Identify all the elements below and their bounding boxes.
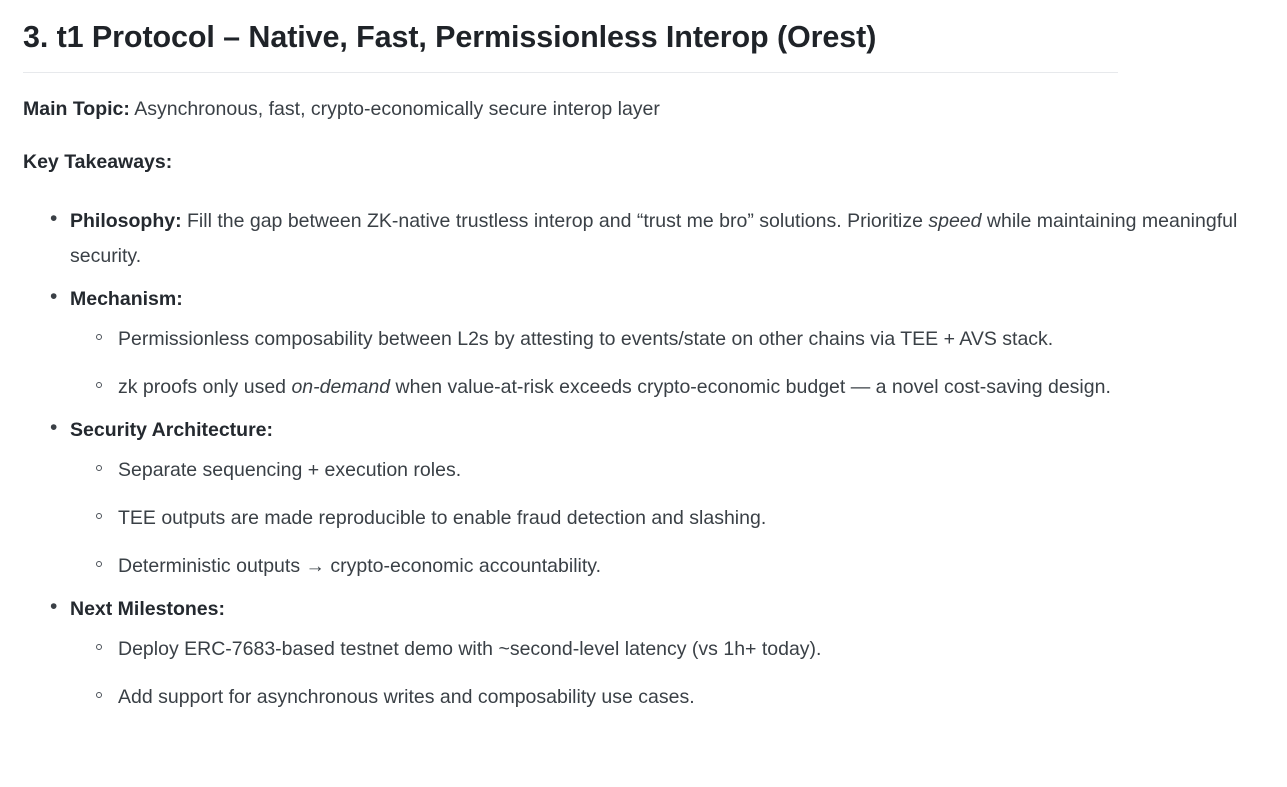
- list-item: Separate sequencing + execution roles.: [70, 452, 1264, 488]
- sub-text-b: when value-at-risk exceeds crypto-econom…: [390, 376, 1111, 398]
- main-topic-paragraph: Main Topic: Asynchronous, fast, crypto-e…: [23, 95, 1264, 124]
- sub-text-a: Permissionless composability between L2s…: [118, 328, 1053, 350]
- milestone-item-1: Add support for asynchronous writes and …: [118, 686, 695, 708]
- milestone-item-0: Deploy ERC-7683-based testnet demo with …: [118, 638, 821, 660]
- sub-text-a: zk proofs only used: [118, 376, 291, 398]
- main-topic-label: Main Topic:: [23, 98, 130, 120]
- key-takeaways-label: Key Takeaways:: [23, 151, 172, 173]
- list-item: Next Milestones: Deploy ERC-7683-based t…: [23, 592, 1264, 715]
- next-milestones-sublist: Deploy ERC-7683-based testnet demo with …: [70, 631, 1264, 715]
- security-item-1: TEE outputs are made reproducible to ena…: [118, 507, 766, 529]
- security-item-0: Separate sequencing + execution roles.: [118, 459, 461, 481]
- mechanism-item-0: Permissionless composability between L2s…: [118, 328, 1053, 350]
- list-item: Deterministic outputs → crypto-economic …: [70, 548, 1264, 584]
- sub-emphasis: on-demand: [291, 376, 390, 398]
- list-item: Permissionless composability between L2s…: [70, 321, 1264, 357]
- security-item-2: Deterministic outputs → crypto-economic …: [118, 555, 601, 577]
- philosophy-text-a: Fill the gap between ZK-native trustless…: [182, 210, 929, 232]
- list-item: Deploy ERC-7683-based testnet demo with …: [70, 631, 1264, 667]
- philosophy-label: Philosophy:: [70, 210, 182, 232]
- next-milestones-label: Next Milestones:: [70, 598, 225, 620]
- security-architecture-line: Security Architecture:: [70, 419, 273, 441]
- list-item: zk proofs only used on-demand when value…: [70, 369, 1264, 405]
- page-title: 3. t1 Protocol – Native, Fast, Permissio…: [23, 18, 1264, 56]
- security-architecture-label: Security Architecture:: [70, 419, 273, 441]
- mechanism-line: Mechanism:: [70, 288, 183, 310]
- list-item: Philosophy: Fill the gap between ZK-nati…: [23, 204, 1264, 274]
- list-item: Add support for asynchronous writes and …: [70, 679, 1264, 715]
- list-item: Mechanism: Permissionless composability …: [23, 282, 1264, 405]
- mechanism-item-1: zk proofs only used on-demand when value…: [118, 376, 1111, 398]
- philosophy-emphasis: speed: [928, 210, 981, 232]
- main-topic-text: Asynchronous, fast, crypto-economically …: [130, 98, 660, 120]
- key-takeaways-heading: Key Takeaways:: [23, 148, 1264, 177]
- philosophy-line: Philosophy: Fill the gap between ZK-nati…: [70, 210, 1237, 267]
- next-milestones-line: Next Milestones:: [70, 598, 225, 620]
- mechanism-sublist: Permissionless composability between L2s…: [70, 321, 1264, 405]
- security-architecture-sublist: Separate sequencing + execution roles. T…: [70, 452, 1264, 584]
- mechanism-label: Mechanism:: [70, 288, 183, 310]
- list-item: TEE outputs are made reproducible to ena…: [70, 500, 1264, 536]
- document-page: 3. t1 Protocol – Native, Fast, Permissio…: [0, 0, 1287, 716]
- title-divider: [23, 72, 1118, 73]
- key-takeaways-list: Philosophy: Fill the gap between ZK-nati…: [23, 204, 1264, 716]
- list-item: Security Architecture: Separate sequenci…: [23, 413, 1264, 584]
